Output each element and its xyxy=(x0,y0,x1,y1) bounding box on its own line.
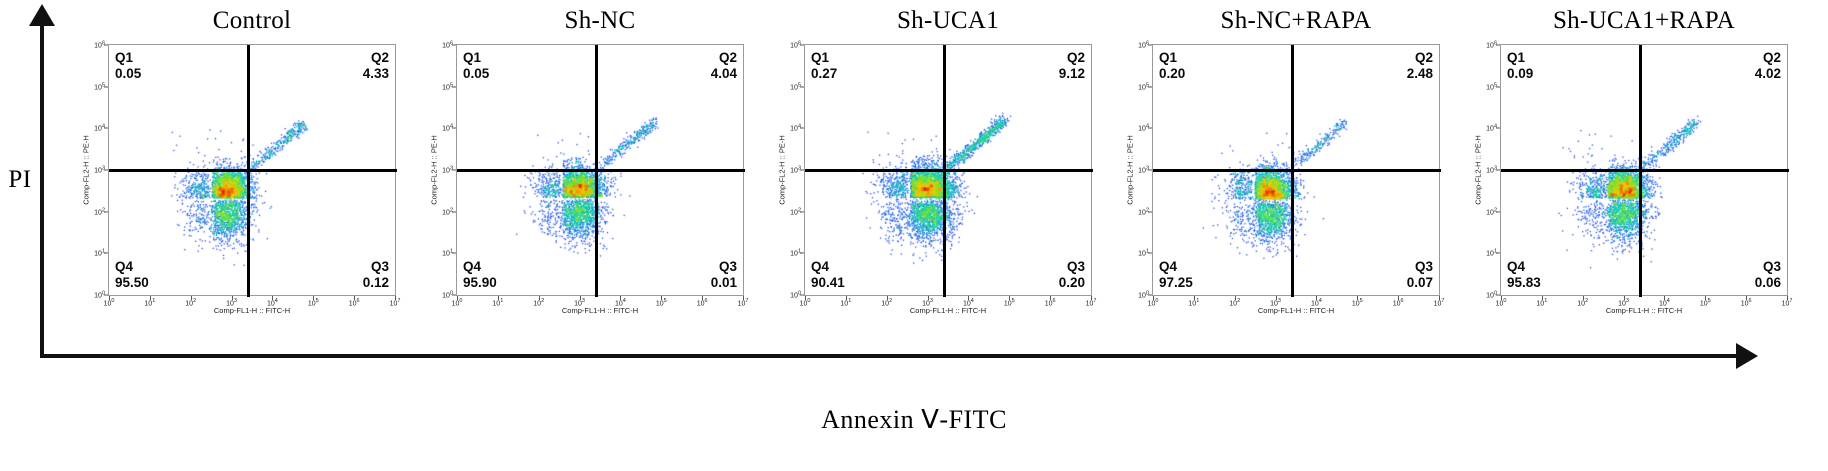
x-tick-base: 10 xyxy=(1700,300,1708,307)
x-tick-exponent: 5 xyxy=(1360,298,1363,304)
y-tick-base: 10 xyxy=(790,84,798,91)
x-tick-base: 10 xyxy=(1496,300,1504,307)
panel-1: Sh-NCQ10.05Q24.04Q30.01Q495.901061051041… xyxy=(426,6,774,356)
plot-x-axis-title: Comp-FL1-H :: FITC-H xyxy=(1258,306,1334,315)
quadrant-stat-q1: Q10.27 xyxy=(811,50,837,82)
y-tick-mark xyxy=(800,253,804,254)
x-tick-base: 10 xyxy=(390,300,398,307)
x-tick-mark xyxy=(1705,296,1706,300)
x-tick-exponent: 7 xyxy=(745,298,748,304)
x-tick-exponent: 2 xyxy=(889,298,892,304)
y-tick-mark xyxy=(452,45,456,46)
quadrant-stat-q3: Q30.20 xyxy=(1059,259,1085,291)
y-tick-base: 10 xyxy=(94,293,102,300)
x-tick-mark xyxy=(1153,296,1154,300)
quadrant-label: Q1 xyxy=(463,50,489,66)
x-tick-exponent: 6 xyxy=(357,298,360,304)
x-tick-exponent: 0 xyxy=(807,298,810,304)
plot-frame: Q10.05Q24.33Q30.12Q495.50 xyxy=(108,44,396,296)
x-tick-base: 10 xyxy=(656,300,664,307)
x-tick-mark xyxy=(620,296,621,300)
y-tick-mark xyxy=(1148,211,1152,212)
quadrant-value: 95.83 xyxy=(1507,275,1541,291)
x-tick-base: 10 xyxy=(492,300,500,307)
y-tick-mark xyxy=(1148,253,1152,254)
y-tick-base: 10 xyxy=(1138,168,1146,175)
quadrant-stat-q4: Q497.25 xyxy=(1159,259,1193,291)
global-y-axis-line xyxy=(40,18,44,358)
quadrant-value: 0.12 xyxy=(363,275,389,291)
y-tick-mark xyxy=(1496,211,1500,212)
quadrant-stat-q3: Q30.06 xyxy=(1755,259,1781,291)
x-tick-exponent: 2 xyxy=(1585,298,1588,304)
plot-frame: Q10.27Q29.12Q30.20Q490.41 xyxy=(804,44,1092,296)
x-tick-mark xyxy=(354,296,355,300)
x-tick-exponent: 1 xyxy=(1196,298,1199,304)
y-tick-base: 10 xyxy=(1138,43,1146,50)
panel-2: Sh-UCA1Q10.27Q29.12Q30.20Q490.4110610510… xyxy=(774,6,1122,356)
x-tick-exponent: 1 xyxy=(848,298,851,304)
quadrant-label: Q4 xyxy=(811,259,845,275)
quadrant-value: 0.05 xyxy=(115,66,141,82)
x-tick-exponent: 1 xyxy=(1544,298,1547,304)
y-tick-base: 10 xyxy=(1138,126,1146,133)
x-tick-mark xyxy=(846,296,847,300)
quadrant-stat-q3: Q30.12 xyxy=(363,259,389,291)
panel-title: Sh-NC xyxy=(426,6,774,36)
quadrant-label: Q3 xyxy=(1407,259,1433,275)
x-tick-base: 10 xyxy=(1086,300,1094,307)
x-tick-exponent: 3 xyxy=(582,298,585,304)
plot-frame: Q10.05Q24.04Q30.01Q495.90 xyxy=(456,44,744,296)
quadrant-label: Q1 xyxy=(811,50,837,66)
x-tick-exponent: 5 xyxy=(664,298,667,304)
quadrant-value: 95.50 xyxy=(115,275,149,291)
y-tick-base: 10 xyxy=(442,84,450,91)
y-tick-base: 10 xyxy=(1138,209,1146,216)
x-tick-mark xyxy=(968,296,969,300)
y-tick-mark xyxy=(800,86,804,87)
quadrant-value: 0.06 xyxy=(1755,275,1781,291)
quadrant-stat-q2: Q24.33 xyxy=(363,50,389,82)
y-tick-mark xyxy=(104,45,108,46)
x-tick-mark xyxy=(1398,296,1399,300)
quadrant-stat-q2: Q22.48 xyxy=(1407,50,1433,82)
quadrant-stat-q4: Q495.90 xyxy=(463,259,497,291)
y-tick-base: 10 xyxy=(94,84,102,91)
panel-3: Sh-NC+RAPAQ10.20Q22.48Q30.07Q497.2510610… xyxy=(1122,6,1470,356)
x-tick-mark xyxy=(191,296,192,300)
plot-frame: Q10.20Q22.48Q30.07Q497.25 xyxy=(1152,44,1440,296)
y-tick-base: 10 xyxy=(94,251,102,258)
x-tick-exponent: 5 xyxy=(1012,298,1015,304)
y-tick-base: 10 xyxy=(790,293,798,300)
y-tick-base: 10 xyxy=(790,168,798,175)
quadrant-stat-q1: Q10.05 xyxy=(115,50,141,82)
y-tick-base: 10 xyxy=(442,209,450,216)
y-tick-mark xyxy=(452,170,456,171)
y-tick-mark xyxy=(1148,295,1152,296)
plot-y-axis-title: Comp-FL2-H :: PE-H xyxy=(1126,135,1135,205)
x-tick-mark xyxy=(928,296,929,300)
x-tick-base: 10 xyxy=(738,300,746,307)
x-tick-exponent: 6 xyxy=(1053,298,1056,304)
x-tick-base: 10 xyxy=(104,300,112,307)
x-tick-exponent: 3 xyxy=(1278,298,1281,304)
quadrant-label: Q1 xyxy=(1507,50,1533,66)
x-tick-mark xyxy=(1542,296,1543,300)
scatter-plot: Q10.05Q24.04Q30.01Q495.90106105104103102… xyxy=(456,44,744,296)
x-tick-mark xyxy=(580,296,581,300)
x-tick-mark xyxy=(109,296,110,300)
scatter-plot: Q10.20Q22.48Q30.07Q497.25106105104103102… xyxy=(1152,44,1440,296)
quadrant-stat-q2: Q29.12 xyxy=(1059,50,1085,82)
quadrant-horizontal-gate[interactable] xyxy=(1501,169,1789,172)
y-tick-mark xyxy=(452,211,456,212)
x-tick-base: 10 xyxy=(1434,300,1442,307)
x-tick-mark xyxy=(805,296,806,300)
y-tick-mark xyxy=(1496,128,1500,129)
x-tick-exponent: 3 xyxy=(234,298,237,304)
quadrant-label: Q2 xyxy=(363,50,389,66)
y-tick-mark xyxy=(452,86,456,87)
panel-title: Control xyxy=(78,6,426,36)
x-tick-mark xyxy=(1316,296,1317,300)
quadrant-label: Q2 xyxy=(711,50,737,66)
x-tick-exponent: 5 xyxy=(316,298,319,304)
quadrant-value: 0.01 xyxy=(711,275,737,291)
x-tick-exponent: 5 xyxy=(1708,298,1711,304)
y-tick-base: 10 xyxy=(790,126,798,133)
y-tick-mark xyxy=(800,170,804,171)
quadrant-label: Q4 xyxy=(1507,259,1541,275)
x-tick-mark xyxy=(1194,296,1195,300)
y-tick-base: 10 xyxy=(1138,84,1146,91)
x-tick-base: 10 xyxy=(1741,300,1749,307)
plot-y-axis-title: Comp-FL2-H :: PE-H xyxy=(1474,135,1483,205)
y-tick-mark xyxy=(104,170,108,171)
plot-y-axis-title: Comp-FL2-H :: PE-H xyxy=(778,135,787,205)
x-tick-mark xyxy=(1624,296,1625,300)
y-tick-base: 10 xyxy=(1486,209,1494,216)
x-tick-base: 10 xyxy=(881,300,889,307)
quadrant-value: 4.33 xyxy=(363,66,389,82)
y-tick-mark xyxy=(104,211,108,212)
x-tick-exponent: 7 xyxy=(1441,298,1444,304)
quadrant-label: Q2 xyxy=(1407,50,1433,66)
x-tick-mark xyxy=(539,296,540,300)
panel-0: ControlQ10.05Q24.33Q30.12Q495.5010610510… xyxy=(78,6,426,356)
scatter-plot: Q10.09Q24.02Q30.06Q495.83106105104103102… xyxy=(1500,44,1788,296)
x-tick-exponent: 4 xyxy=(1667,298,1670,304)
y-tick-base: 10 xyxy=(1486,84,1494,91)
x-tick-mark xyxy=(232,296,233,300)
x-tick-base: 10 xyxy=(840,300,848,307)
x-tick-mark xyxy=(1439,296,1440,300)
x-tick-mark xyxy=(1276,296,1277,300)
x-tick-mark xyxy=(457,296,458,300)
quadrant-value: 97.25 xyxy=(1159,275,1193,291)
scatter-plot: Q10.27Q29.12Q30.20Q490.41106105104103102… xyxy=(804,44,1092,296)
plot-x-axis-title: Comp-FL1-H :: FITC-H xyxy=(910,306,986,315)
x-tick-mark xyxy=(1501,296,1502,300)
x-tick-mark xyxy=(743,296,744,300)
global-x-axis-title: Annexin Ⅴ-FITC xyxy=(0,405,1828,435)
quadrant-label: Q3 xyxy=(1059,259,1085,275)
quadrant-value: 2.48 xyxy=(1407,66,1433,82)
quadrant-value: 0.27 xyxy=(811,66,837,82)
quadrant-value: 0.07 xyxy=(1407,275,1433,291)
x-tick-mark xyxy=(1009,296,1010,300)
y-tick-mark xyxy=(800,295,804,296)
x-tick-mark xyxy=(395,296,396,300)
x-tick-mark xyxy=(661,296,662,300)
global-y-axis-title: PI xyxy=(0,166,40,194)
quadrant-value: 0.09 xyxy=(1507,66,1533,82)
y-tick-base: 10 xyxy=(1486,293,1494,300)
quadrant-horizontal-gate[interactable] xyxy=(457,169,745,172)
plot-x-axis-title: Comp-FL1-H :: FITC-H xyxy=(562,306,638,315)
y-tick-base: 10 xyxy=(94,43,102,50)
quadrant-stat-q3: Q30.01 xyxy=(711,259,737,291)
quadrant-value: 9.12 xyxy=(1059,66,1085,82)
y-tick-base: 10 xyxy=(94,126,102,133)
y-tick-base: 10 xyxy=(1486,126,1494,133)
quadrant-horizontal-gate[interactable] xyxy=(1153,169,1441,172)
x-tick-base: 10 xyxy=(308,300,316,307)
x-tick-base: 10 xyxy=(185,300,193,307)
y-tick-base: 10 xyxy=(1486,168,1494,175)
x-tick-mark xyxy=(498,296,499,300)
x-tick-mark xyxy=(1787,296,1788,300)
quadrant-stat-q1: Q10.20 xyxy=(1159,50,1185,82)
plot-y-axis-title: Comp-FL2-H :: PE-H xyxy=(430,135,439,205)
y-tick-mark xyxy=(104,128,108,129)
quadrant-value: 4.02 xyxy=(1755,66,1781,82)
quadrant-stat-q1: Q10.09 xyxy=(1507,50,1533,82)
x-tick-exponent: 7 xyxy=(397,298,400,304)
y-tick-mark xyxy=(1496,86,1500,87)
y-tick-base: 10 xyxy=(94,168,102,175)
panel-4: Sh-UCA1+RAPAQ10.09Q24.02Q30.06Q495.83106… xyxy=(1470,6,1818,356)
x-tick-exponent: 7 xyxy=(1093,298,1096,304)
x-tick-base: 10 xyxy=(533,300,541,307)
flow-cytometry-figure: PI Annexin Ⅴ-FITC ControlQ10.05Q24.33Q30… xyxy=(0,0,1828,471)
quadrant-stat-q4: Q495.83 xyxy=(1507,259,1541,291)
x-tick-exponent: 0 xyxy=(1503,298,1506,304)
y-tick-mark xyxy=(1496,45,1500,46)
y-tick-base: 10 xyxy=(1486,251,1494,258)
quadrant-horizontal-gate[interactable] xyxy=(805,169,1093,172)
y-tick-mark xyxy=(1148,128,1152,129)
x-tick-mark xyxy=(1235,296,1236,300)
quadrant-value: 90.41 xyxy=(811,275,845,291)
y-tick-mark xyxy=(1148,170,1152,171)
y-tick-base: 10 xyxy=(790,43,798,50)
x-tick-exponent: 1 xyxy=(152,298,155,304)
panel-title: Sh-UCA1 xyxy=(774,6,1122,36)
quadrant-label: Q1 xyxy=(1159,50,1185,66)
quadrant-value: 0.20 xyxy=(1059,275,1085,291)
y-tick-base: 10 xyxy=(1138,293,1146,300)
panel-title: Sh-NC+RAPA xyxy=(1122,6,1470,36)
x-tick-exponent: 4 xyxy=(1319,298,1322,304)
y-tick-mark xyxy=(1496,253,1500,254)
x-tick-base: 10 xyxy=(1004,300,1012,307)
y-tick-base: 10 xyxy=(442,126,450,133)
quadrant-label: Q2 xyxy=(1059,50,1085,66)
y-tick-mark xyxy=(1496,170,1500,171)
y-tick-mark xyxy=(1148,86,1152,87)
x-tick-exponent: 0 xyxy=(459,298,462,304)
quadrant-value: 0.05 xyxy=(463,66,489,82)
panel-strip: ControlQ10.05Q24.33Q30.12Q495.5010610510… xyxy=(78,6,1818,356)
quadrant-stat-q2: Q24.04 xyxy=(711,50,737,82)
x-tick-exponent: 6 xyxy=(705,298,708,304)
y-tick-base: 10 xyxy=(442,293,450,300)
x-tick-exponent: 6 xyxy=(1749,298,1752,304)
y-tick-base: 10 xyxy=(94,209,102,216)
y-tick-mark xyxy=(800,128,804,129)
x-tick-mark xyxy=(1664,296,1665,300)
x-tick-base: 10 xyxy=(1352,300,1360,307)
x-tick-exponent: 6 xyxy=(1401,298,1404,304)
x-tick-exponent: 4 xyxy=(971,298,974,304)
y-tick-base: 10 xyxy=(1486,43,1494,50)
quadrant-stat-q4: Q495.50 xyxy=(115,259,149,291)
quadrant-label: Q4 xyxy=(1159,259,1193,275)
x-tick-exponent: 7 xyxy=(1789,298,1792,304)
y-tick-mark xyxy=(104,86,108,87)
x-tick-base: 10 xyxy=(452,300,460,307)
x-tick-base: 10 xyxy=(1045,300,1053,307)
x-tick-mark xyxy=(1091,296,1092,300)
x-tick-base: 10 xyxy=(1577,300,1585,307)
x-tick-base: 10 xyxy=(1393,300,1401,307)
plot-y-axis-title: Comp-FL2-H :: PE-H xyxy=(82,135,91,205)
y-tick-base: 10 xyxy=(442,168,450,175)
quadrant-value: 95.90 xyxy=(463,275,497,291)
quadrant-label: Q3 xyxy=(711,259,737,275)
quadrant-label: Q4 xyxy=(115,259,149,275)
y-tick-mark xyxy=(800,211,804,212)
x-tick-mark xyxy=(1050,296,1051,300)
x-tick-mark xyxy=(272,296,273,300)
quadrant-stat-q1: Q10.05 xyxy=(463,50,489,82)
panel-title: Sh-UCA1+RAPA xyxy=(1470,6,1818,36)
quadrant-label: Q4 xyxy=(463,259,497,275)
x-tick-mark xyxy=(1357,296,1358,300)
plot-frame: Q10.09Q24.02Q30.06Q495.83 xyxy=(1500,44,1788,296)
x-tick-mark xyxy=(313,296,314,300)
quadrant-value: 4.04 xyxy=(711,66,737,82)
y-tick-mark xyxy=(452,128,456,129)
quadrant-label: Q1 xyxy=(115,50,141,66)
y-tick-base: 10 xyxy=(442,43,450,50)
y-tick-mark xyxy=(104,295,108,296)
x-tick-base: 10 xyxy=(697,300,705,307)
y-tick-mark xyxy=(800,45,804,46)
y-tick-base: 10 xyxy=(790,251,798,258)
x-tick-exponent: 2 xyxy=(193,298,196,304)
x-tick-exponent: 0 xyxy=(1155,298,1158,304)
y-tick-mark xyxy=(1148,45,1152,46)
x-tick-exponent: 3 xyxy=(1626,298,1629,304)
x-tick-exponent: 3 xyxy=(930,298,933,304)
global-y-axis-arrowhead-icon xyxy=(29,4,55,26)
quadrant-value: 0.20 xyxy=(1159,66,1185,82)
x-tick-base: 10 xyxy=(1229,300,1237,307)
quadrant-label: Q3 xyxy=(1755,259,1781,275)
x-tick-base: 10 xyxy=(800,300,808,307)
x-tick-exponent: 0 xyxy=(111,298,114,304)
x-tick-base: 10 xyxy=(144,300,152,307)
plot-x-axis-title: Comp-FL1-H :: FITC-H xyxy=(1606,306,1682,315)
quadrant-label: Q2 xyxy=(1755,50,1781,66)
quadrant-label: Q3 xyxy=(363,259,389,275)
x-tick-exponent: 4 xyxy=(275,298,278,304)
quadrant-stat-q4: Q490.41 xyxy=(811,259,845,291)
x-tick-base: 10 xyxy=(1188,300,1196,307)
y-tick-mark xyxy=(1496,295,1500,296)
quadrant-horizontal-gate[interactable] xyxy=(109,169,397,172)
y-tick-mark xyxy=(104,253,108,254)
quadrant-stat-q2: Q24.02 xyxy=(1755,50,1781,82)
x-tick-mark xyxy=(702,296,703,300)
x-tick-exponent: 2 xyxy=(1237,298,1240,304)
y-tick-base: 10 xyxy=(790,209,798,216)
x-tick-mark xyxy=(150,296,151,300)
x-tick-mark xyxy=(1583,296,1584,300)
x-tick-exponent: 1 xyxy=(500,298,503,304)
x-tick-base: 10 xyxy=(1782,300,1790,307)
quadrant-stat-q3: Q30.07 xyxy=(1407,259,1433,291)
y-tick-mark xyxy=(452,295,456,296)
x-tick-mark xyxy=(887,296,888,300)
x-tick-mark xyxy=(1746,296,1747,300)
x-tick-exponent: 2 xyxy=(541,298,544,304)
x-tick-base: 10 xyxy=(349,300,357,307)
y-tick-base: 10 xyxy=(442,251,450,258)
x-tick-exponent: 4 xyxy=(623,298,626,304)
plot-x-axis-title: Comp-FL1-H :: FITC-H xyxy=(214,306,290,315)
x-tick-base: 10 xyxy=(1536,300,1544,307)
y-tick-base: 10 xyxy=(1138,251,1146,258)
scatter-plot: Q10.05Q24.33Q30.12Q495.50106105104103102… xyxy=(108,44,396,296)
y-tick-mark xyxy=(452,253,456,254)
x-tick-base: 10 xyxy=(1148,300,1156,307)
